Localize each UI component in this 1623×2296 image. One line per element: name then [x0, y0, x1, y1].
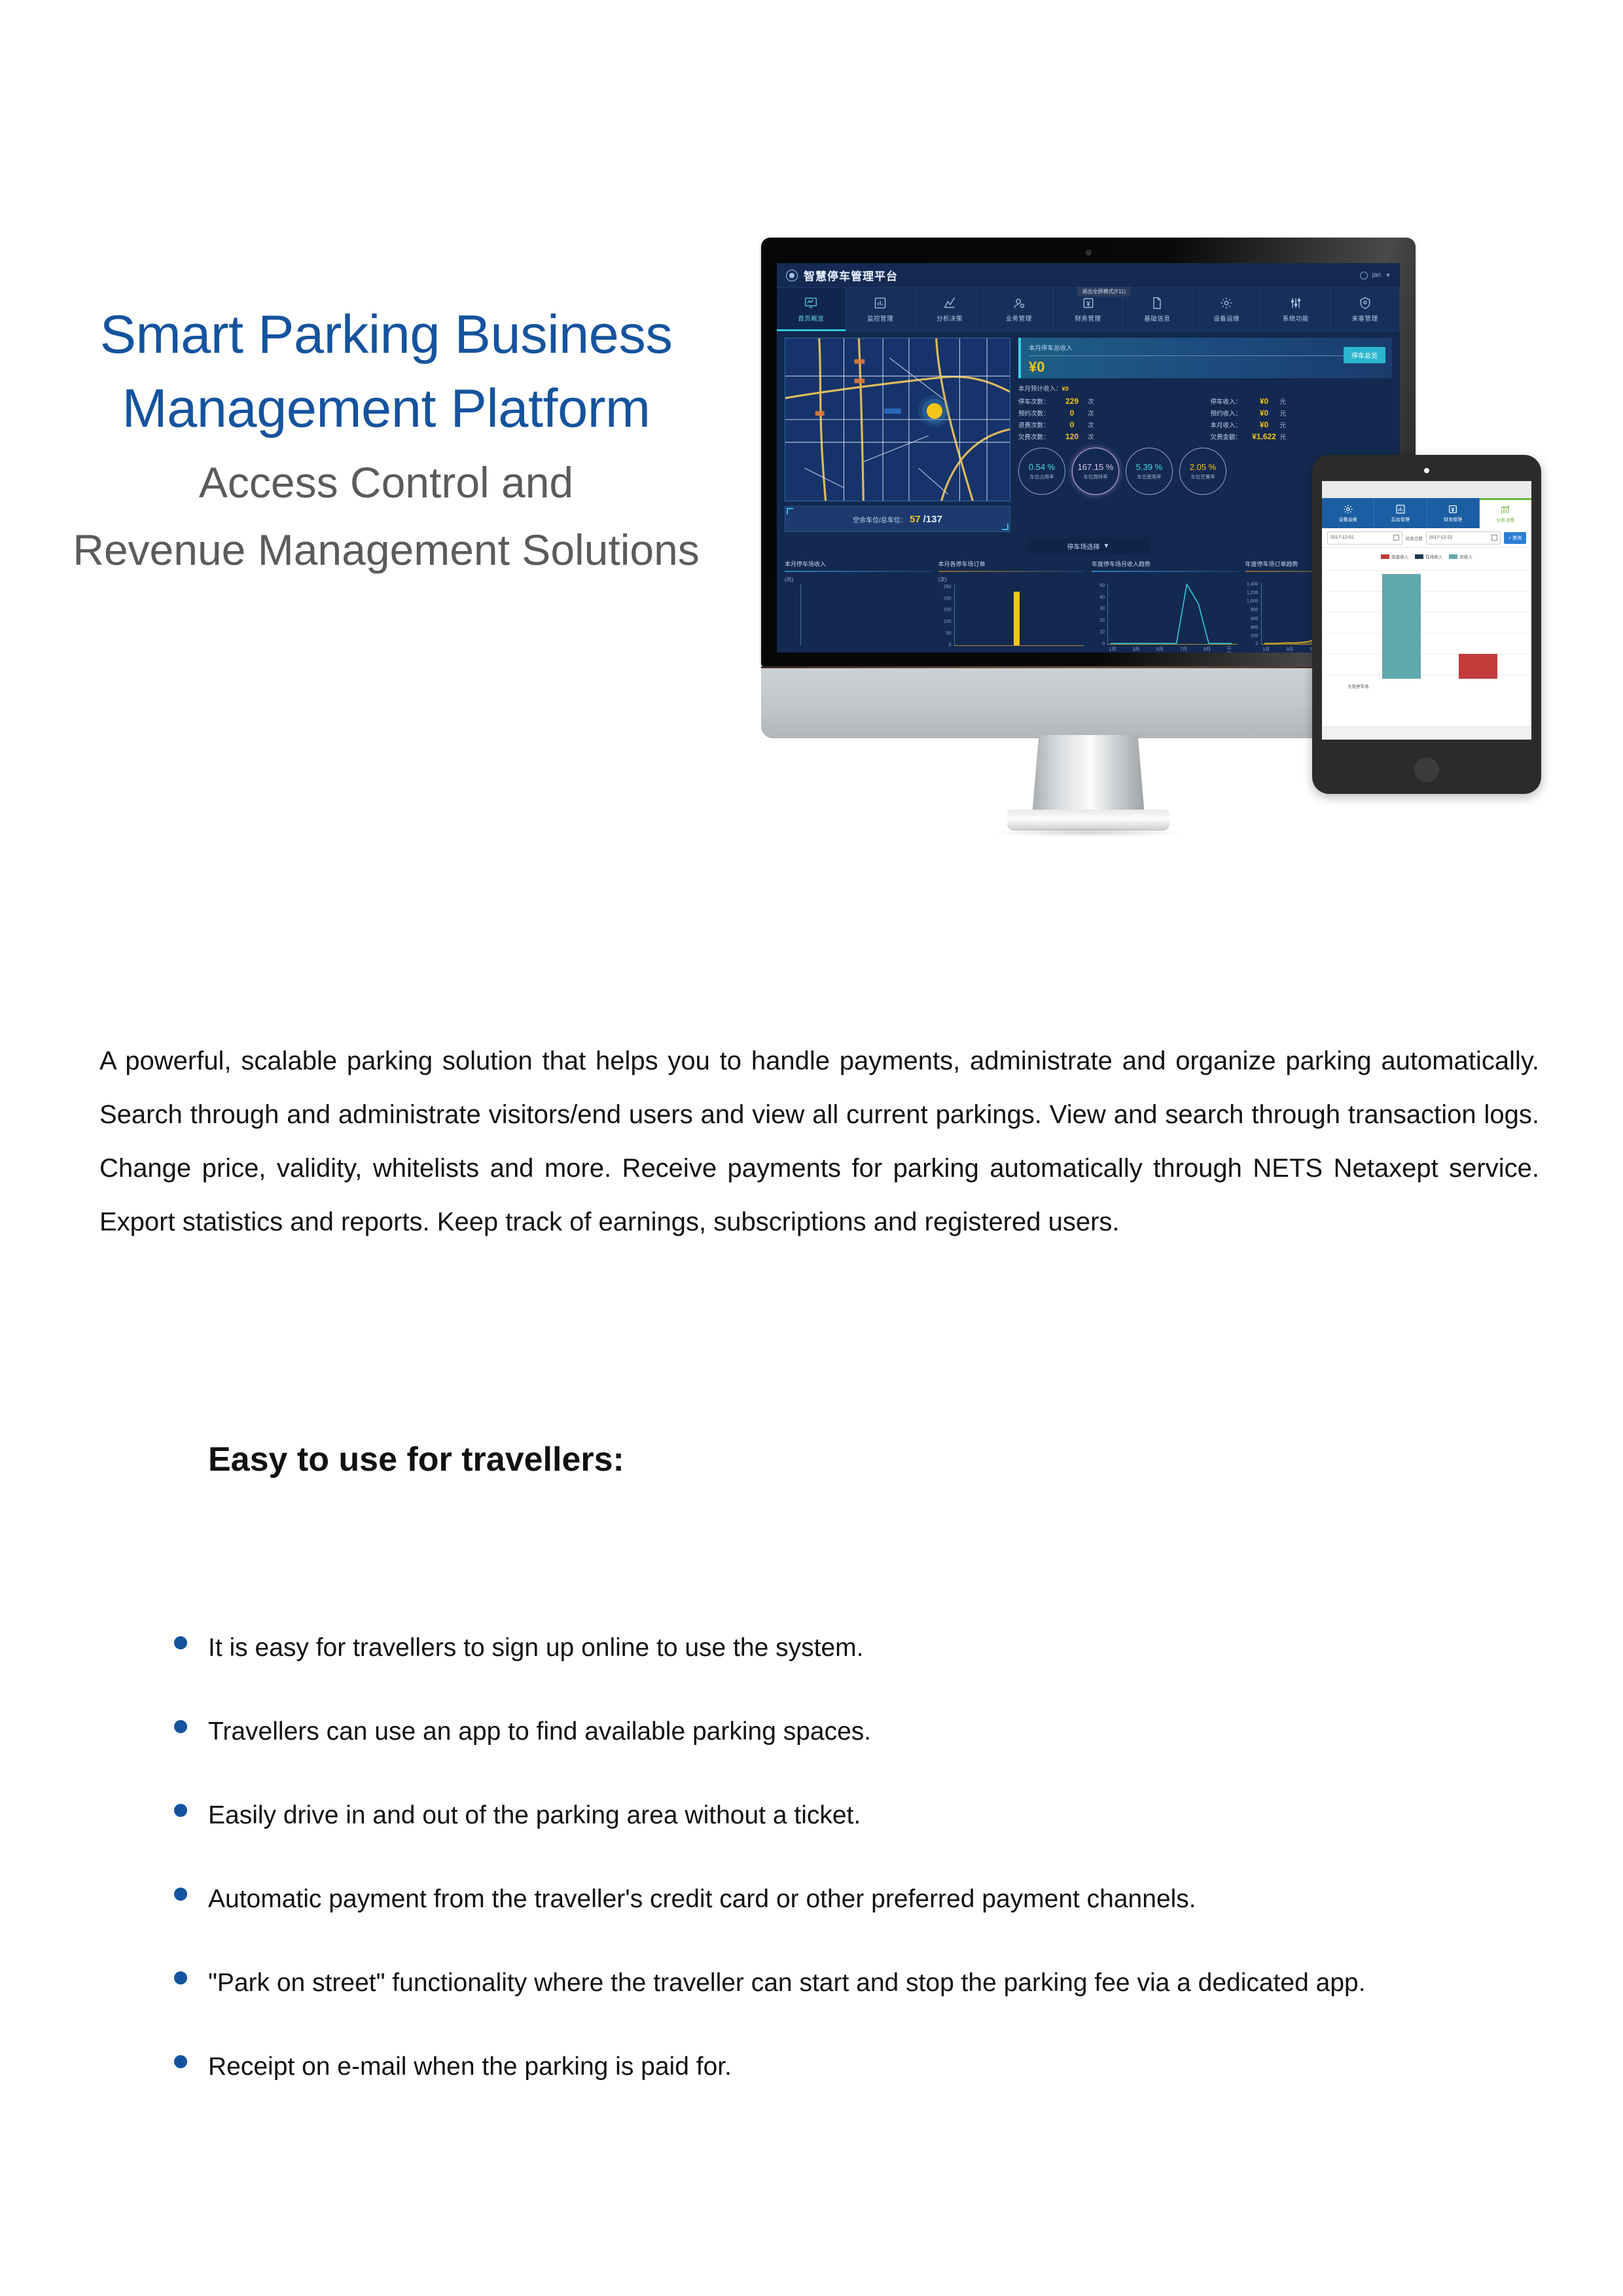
y-tick: 40 [1099, 595, 1105, 600]
date-range-separator: 结束日期 [1406, 535, 1423, 541]
monitor-shadow [990, 828, 1186, 837]
kpi-row: 停车次数：229次 [1018, 397, 1200, 406]
y-tick: 50 [946, 632, 952, 636]
x-axis: 1月 3月 5月 7月 9月 11月 [1107, 646, 1239, 653]
list-item-text: Travellers can use an app to find availa… [208, 1717, 871, 1746]
tablet-tab-label: 分析决策 [1496, 517, 1514, 524]
kpi-label: 欠费次数： [1018, 432, 1056, 441]
legend-item-online: 在线收入 [1415, 553, 1442, 560]
y-tick: 200 [944, 596, 952, 601]
chart-monthly-orders: 本月各停车场订单 (次) 250 200 150 100 50 [938, 560, 1086, 653]
x-tick: 5月 [1156, 646, 1164, 653]
bar-chart-icon [1395, 504, 1406, 514]
chart-row: 本月停车场收入 (元) 本月各停车场订单 (次) [777, 554, 1400, 653]
kpi-unit: 元 [1280, 397, 1287, 406]
kpi-label: 本月收入： [1211, 420, 1249, 429]
monthly-revenue-card: 本月停车总收入 ¥0 停车总览 [1018, 338, 1392, 378]
search-icon: ⌕ [1508, 536, 1511, 541]
expected-revenue-label: 本月预计收入： [1018, 386, 1062, 393]
chart-plot: 50 40 30 20 10 0 [1092, 583, 1239, 653]
gauge-value: 5.39 % [1136, 462, 1162, 472]
parking-map[interactable] [785, 338, 1010, 501]
legend-label: 总收入 [1459, 553, 1472, 560]
nav-label-business: 业务管理 [1006, 314, 1032, 323]
kpi-unit: 次 [1088, 432, 1094, 441]
kpi-value: ¥0 [1249, 408, 1280, 418]
nav-item-monitoring[interactable]: 监控管理 [846, 288, 916, 331]
list-item-text: Receipt on e-mail when the parking is pa… [208, 2053, 732, 2081]
kpi-label: 预约收入： [1211, 408, 1249, 418]
expected-revenue-value: ¥0 [1062, 386, 1069, 393]
chart-unit: (元) [785, 576, 932, 583]
y-tick: 150 [944, 608, 952, 613]
legend-swatch [1415, 554, 1423, 559]
app-logo-icon [786, 270, 798, 281]
free-space-count: 57 [910, 514, 921, 525]
tablet-bar-chart: 大苑停车场 [1326, 562, 1527, 693]
kpi-label: 预约次数： [1018, 408, 1056, 418]
parking-lot-selector[interactable]: 停车场选择 ▼ [1028, 537, 1149, 554]
x-tick: 11月 [1226, 646, 1234, 653]
map-column: 空余车位/总车位： 57 /137 [785, 338, 1010, 532]
parking-space-summary: 空余车位/总车位： 57 /137 [785, 506, 1010, 532]
tablet-camera-icon [1424, 468, 1429, 473]
chevron-down-icon: ▼ [1103, 543, 1110, 550]
tablet-home-button[interactable] [1414, 757, 1439, 782]
gear-icon [1343, 504, 1353, 514]
kpi-row: 欠费金额：¥1,622元 [1211, 432, 1393, 441]
divider [1029, 355, 1384, 356]
trend-up-icon [1500, 505, 1510, 515]
kpi-label: 退费次数： [1018, 420, 1056, 429]
title-block: Smart Parking Business Management Platfo… [39, 298, 733, 581]
gauge-turnover: 167.15 % 车位周转率 [1072, 448, 1119, 495]
bullet-dot-icon [174, 1720, 187, 1733]
user-menu[interactable]: jari ▼ [1360, 272, 1391, 279]
y-axis: 50 40 30 20 10 0 [1092, 583, 1106, 645]
map-roads-graphic [785, 338, 1010, 501]
nav-label-analysis: 分析决策 [936, 314, 963, 323]
nav-label-finance: 财务管理 [1075, 314, 1101, 323]
chart-title: 本月停车场收入 [785, 560, 932, 571]
kpi-row: 本月收入：¥0元 [1211, 420, 1393, 429]
end-date-input[interactable]: 2017-12-22 [1426, 531, 1501, 545]
dashboard-nav: 首页概览 监控管理 分析决策 业务管理 [777, 288, 1400, 331]
nav-item-system[interactable]: 系统功能 [1261, 288, 1330, 331]
bar-orders [1014, 592, 1020, 645]
dashboard-app: 智慧停车管理平台 jari ▼ 首页概览 [777, 263, 1400, 653]
nav-label-system: 系统功能 [1283, 314, 1309, 323]
gauge-utilization: 5.39 % 车位使用率 [1126, 448, 1173, 495]
yuan-box-icon [1082, 296, 1095, 310]
y-tick: 0 [949, 643, 952, 648]
kpi-row: 预约次数：0次 [1018, 408, 1200, 418]
nav-label-visitors: 来客管理 [1352, 314, 1378, 323]
bullet-dot-icon [174, 2055, 187, 2068]
tablet-screen: 设备运维 后台管理 财务管理 分析决策 2017-12-01 [1322, 481, 1531, 740]
x-tick: 7月 [1180, 646, 1187, 653]
bullet-dot-icon [174, 1888, 187, 1901]
gauge-value: 2.05 % [1190, 462, 1216, 472]
tablet-filter-bar: 2017-12-01 结束日期 2017-12-22 ⌕ 查询 [1322, 528, 1531, 548]
gauge-value: 167.15 % [1078, 462, 1114, 472]
kpi-row: 欠费次数：120次 [1018, 432, 1200, 441]
app-title: 智慧停车管理平台 [804, 267, 898, 283]
list-item-text: Automatic payment from the traveller's c… [208, 1885, 1196, 1913]
legend-swatch [1381, 554, 1389, 559]
dashboard-header: 智慧停车管理平台 jari ▼ [777, 263, 1400, 288]
kpi-row: 预约收入：¥0元 [1211, 408, 1393, 418]
feature-bullet-list: It is easy for travellers to sign up onl… [170, 1623, 1538, 2092]
start-date-input[interactable]: 2017-12-01 [1327, 531, 1402, 545]
y-tick: 1,000 [1247, 600, 1258, 604]
chart-unit [1092, 576, 1239, 582]
webcam-icon [1086, 249, 1092, 255]
bullet-dot-icon [174, 1636, 187, 1649]
page-title-line-2: Management Platform [39, 372, 733, 446]
revenue-card-label: 本月停车总收入 [1029, 343, 1384, 352]
bullet-dot-icon [174, 1804, 187, 1817]
y-tick: 1,200 [1247, 591, 1258, 596]
kpi-unit: 元 [1280, 420, 1287, 429]
page-subtitle-line-2: Revenue Management Solutions [39, 520, 733, 581]
y-tick: 0 [1102, 642, 1105, 647]
calendar-icon [1393, 535, 1399, 541]
divider [1092, 571, 1239, 572]
hero-section: Smart Parking Business Management Platfo… [0, 0, 1623, 870]
chart-gridlines [1326, 562, 1527, 693]
nav-label-basic-info: 基础信息 [1144, 314, 1170, 323]
x-tick: 3月 [1133, 646, 1140, 653]
revenue-amount: ¥0 [1029, 359, 1384, 376]
kpi-label: 欠费金额： [1211, 432, 1249, 441]
kpi-value: ¥0 [1249, 397, 1280, 406]
legend-item-cash: 现金收入 [1381, 553, 1408, 560]
x-tick: 9月 [1204, 646, 1211, 653]
gauge-label: 车位占用率 [1029, 473, 1054, 480]
chart-title: 年度停车场月收入趋势 [1092, 560, 1239, 571]
chart-legend: 现金收入 在线收入 总收入 [1322, 548, 1531, 562]
nav-item-visitors[interactable]: 来客管理 [1330, 288, 1400, 331]
tablet-tab-device-ops[interactable]: 设备运维 [1322, 498, 1374, 528]
tablet-footer-bar [1322, 726, 1531, 740]
chart-unit: (次) [938, 576, 1086, 583]
tablet-status-bar [1322, 481, 1531, 498]
x-tick: 3月 [1286, 646, 1293, 653]
legend-swatch [1449, 554, 1457, 559]
list-item: Receipt on e-mail when the parking is pa… [170, 2042, 1538, 2092]
legend-item-total: 总收入 [1449, 553, 1472, 560]
list-item-text: Easily drive in and out of the parking a… [208, 1801, 861, 1829]
gauge-occupancy: 0.54 % 车位占用率 [1018, 448, 1065, 495]
legend-label: 在线收入 [1425, 553, 1442, 560]
kpi-value: ¥0 [1249, 420, 1280, 429]
start-date-value: 2017-12-01 [1330, 535, 1354, 540]
corner-accent-br [1002, 524, 1008, 530]
kpi-value: 0 [1056, 420, 1088, 429]
list-item: Automatic payment from the traveller's c… [170, 1874, 1414, 1924]
intro-paragraph: A powerful, scalable parking solution th… [99, 1034, 1539, 1249]
shield-icon [1359, 296, 1372, 310]
list-item: Travellers can use an app to find availa… [170, 1707, 1538, 1757]
chart-plot: 250 200 150 100 50 0 [938, 584, 1086, 653]
kpi-unit: 元 [1280, 432, 1287, 441]
nav-item-device-ops[interactable]: 设备运维 [1192, 288, 1262, 331]
y-tick: 10 [1099, 630, 1105, 635]
user-name: jari [1372, 272, 1381, 279]
y-tick: 50 [1099, 583, 1105, 588]
kpi-row: 停车收入：¥0元 [1211, 397, 1393, 406]
total-space-count: /137 [923, 514, 942, 525]
kpi-grid: 停车次数：229次 停车收入：¥0元 预约次数：0次 预约收入：¥0元 退费次数… [1018, 397, 1392, 441]
chart-plot [785, 584, 932, 653]
line-series [1108, 583, 1238, 644]
y-tick: 250 [944, 584, 952, 589]
kpi-label: 停车次数： [1018, 397, 1056, 406]
y-axis: 250 200 150 100 50 0 [938, 584, 953, 646]
monitor-chart-icon [804, 296, 817, 310]
kpi-unit: 次 [1088, 408, 1094, 418]
list-item: "Park on street" functionality where the… [170, 1958, 1414, 2008]
nav-label-device-ops: 设备运维 [1213, 314, 1240, 323]
nav-item-business[interactable]: 业务管理 [984, 288, 1054, 331]
nav-label-overview: 首页概览 [798, 314, 824, 323]
chart-yearly-revenue-trend: 年度停车场月收入趋势 50 40 30 20 10 0 [1092, 560, 1239, 653]
kpi-value: 120 [1056, 432, 1088, 441]
tablet-mockup: 设备运维 后台管理 财务管理 分析决策 2017-12-01 [1312, 455, 1541, 794]
y-tick: 600 [1251, 617, 1258, 621]
kpi-unit: 元 [1280, 408, 1287, 418]
gauge-label: 车位空置率 [1190, 473, 1215, 480]
plot-area [954, 584, 1084, 646]
gauge-label: 车位周转率 [1083, 473, 1108, 480]
gauge-vacancy: 2.05 % 车位空置率 [1179, 448, 1226, 495]
x-tick: 1月 [1262, 646, 1270, 653]
monitor-stand-neck [1032, 735, 1145, 815]
tablet-tab-backend[interactable]: 后台管理 [1374, 498, 1427, 528]
gear-icon [1220, 296, 1233, 310]
kpi-unit: 次 [1088, 397, 1094, 406]
dashboard-body: 空余车位/总车位： 57 /137 本月停车总收入 ¥0 停车总览 [777, 331, 1400, 532]
list-item-text: "Park on street" functionality where the… [208, 1969, 1366, 1997]
tablet-tab-finance[interactable]: 财务管理 [1427, 498, 1480, 528]
section-heading: Easy to use for travellers: [208, 1440, 624, 1479]
page-subtitle-line-1: Access Control and [39, 452, 733, 514]
y-tick: 100 [944, 620, 952, 624]
list-item-text: It is easy for travellers to sign up onl… [208, 1634, 863, 1662]
bar-chart-icon [874, 296, 887, 310]
nav-item-analysis[interactable]: 分析决策 [916, 288, 985, 331]
tablet-tab-label: 设备运维 [1339, 516, 1357, 523]
list-item: Easily drive in and out of the parking a… [170, 1791, 1538, 1840]
tablet-tab-label: 后台管理 [1391, 516, 1410, 523]
parking-overview-button[interactable]: 停车总览 [1344, 347, 1385, 363]
selector-label: 停车场选择 [1067, 541, 1100, 551]
corner-accent-tl [787, 508, 793, 514]
search-button-label: 查询 [1512, 536, 1522, 541]
chevron-down-icon: ▼ [1385, 272, 1391, 278]
y-tick: 30 [1099, 607, 1105, 611]
tablet-tab-label: 财务管理 [1444, 516, 1462, 523]
chart-monthly-revenue: 本月停车场收入 (元) [785, 560, 932, 653]
trend-up-icon [943, 296, 956, 310]
y-tick: 1,400 [1247, 582, 1258, 586]
plot-area [800, 584, 931, 646]
kpi-value: ¥1,622 [1249, 432, 1280, 441]
y-axis: 1,400 1,200 1,000 800 600 400 200 0 [1245, 583, 1260, 645]
list-item: It is easy for travellers to sign up onl… [170, 1623, 1538, 1673]
page-title-line-1: Smart Parking Business [39, 298, 733, 372]
user-location-icon [1012, 296, 1026, 310]
kpi-unit: 次 [1088, 420, 1094, 429]
monitor-screen: 智慧停车管理平台 jari ▼ 首页概览 [777, 263, 1400, 653]
y-tick: 200 [1251, 634, 1258, 638]
legend-label: 现金收入 [1391, 553, 1408, 560]
end-date-value: 2017-12-22 [1429, 535, 1453, 540]
kpi-row: 退费次数：0次 [1018, 420, 1200, 429]
space-summary-label: 空余车位/总车位： [853, 514, 907, 524]
nav-item-overview[interactable]: 首页概览 [777, 288, 846, 331]
bar-total-income [1382, 574, 1421, 679]
search-button[interactable]: ⌕ 查询 [1504, 532, 1526, 544]
kpi-label: 停车收入： [1211, 397, 1249, 406]
x-axis-label: 大苑停车场 [1347, 683, 1369, 689]
tablet-tab-analysis[interactable]: 分析决策 [1480, 498, 1531, 528]
yuan-box-icon [1448, 504, 1458, 514]
kpi-value: 229 [1056, 397, 1088, 406]
nav-label-monitoring: 监控管理 [867, 314, 893, 323]
document-icon [1150, 296, 1164, 310]
bullet-dot-icon [174, 1971, 187, 1984]
exit-fullscreen-tooltip: 退出全屏模式(F11) [1077, 287, 1132, 296]
sliders-icon [1289, 296, 1302, 310]
plot-area [1107, 583, 1238, 645]
avatar-icon [1360, 272, 1368, 279]
chart-title: 本月各停车场订单 [938, 560, 1086, 571]
y-tick: 20 [1099, 619, 1105, 623]
gauge-value: 0.54 % [1029, 462, 1055, 472]
bar-cash-income [1459, 654, 1497, 679]
calendar-icon [1491, 535, 1497, 541]
y-tick: 400 [1251, 625, 1258, 630]
y-tick: 800 [1251, 608, 1258, 613]
kpi-value: 0 [1056, 408, 1088, 418]
expected-revenue-row: 本月预计收入：¥0 [1018, 384, 1392, 393]
tablet-tab-bar: 设备运维 后台管理 财务管理 分析决策 [1322, 498, 1531, 528]
gauge-label: 车位使用率 [1137, 473, 1162, 480]
divider [938, 571, 1086, 572]
y-tick: 0 [1256, 642, 1258, 647]
x-tick: 1月 [1109, 646, 1116, 653]
nav-item-basic-info[interactable]: 基础信息 [1123, 288, 1192, 331]
divider [785, 571, 932, 572]
